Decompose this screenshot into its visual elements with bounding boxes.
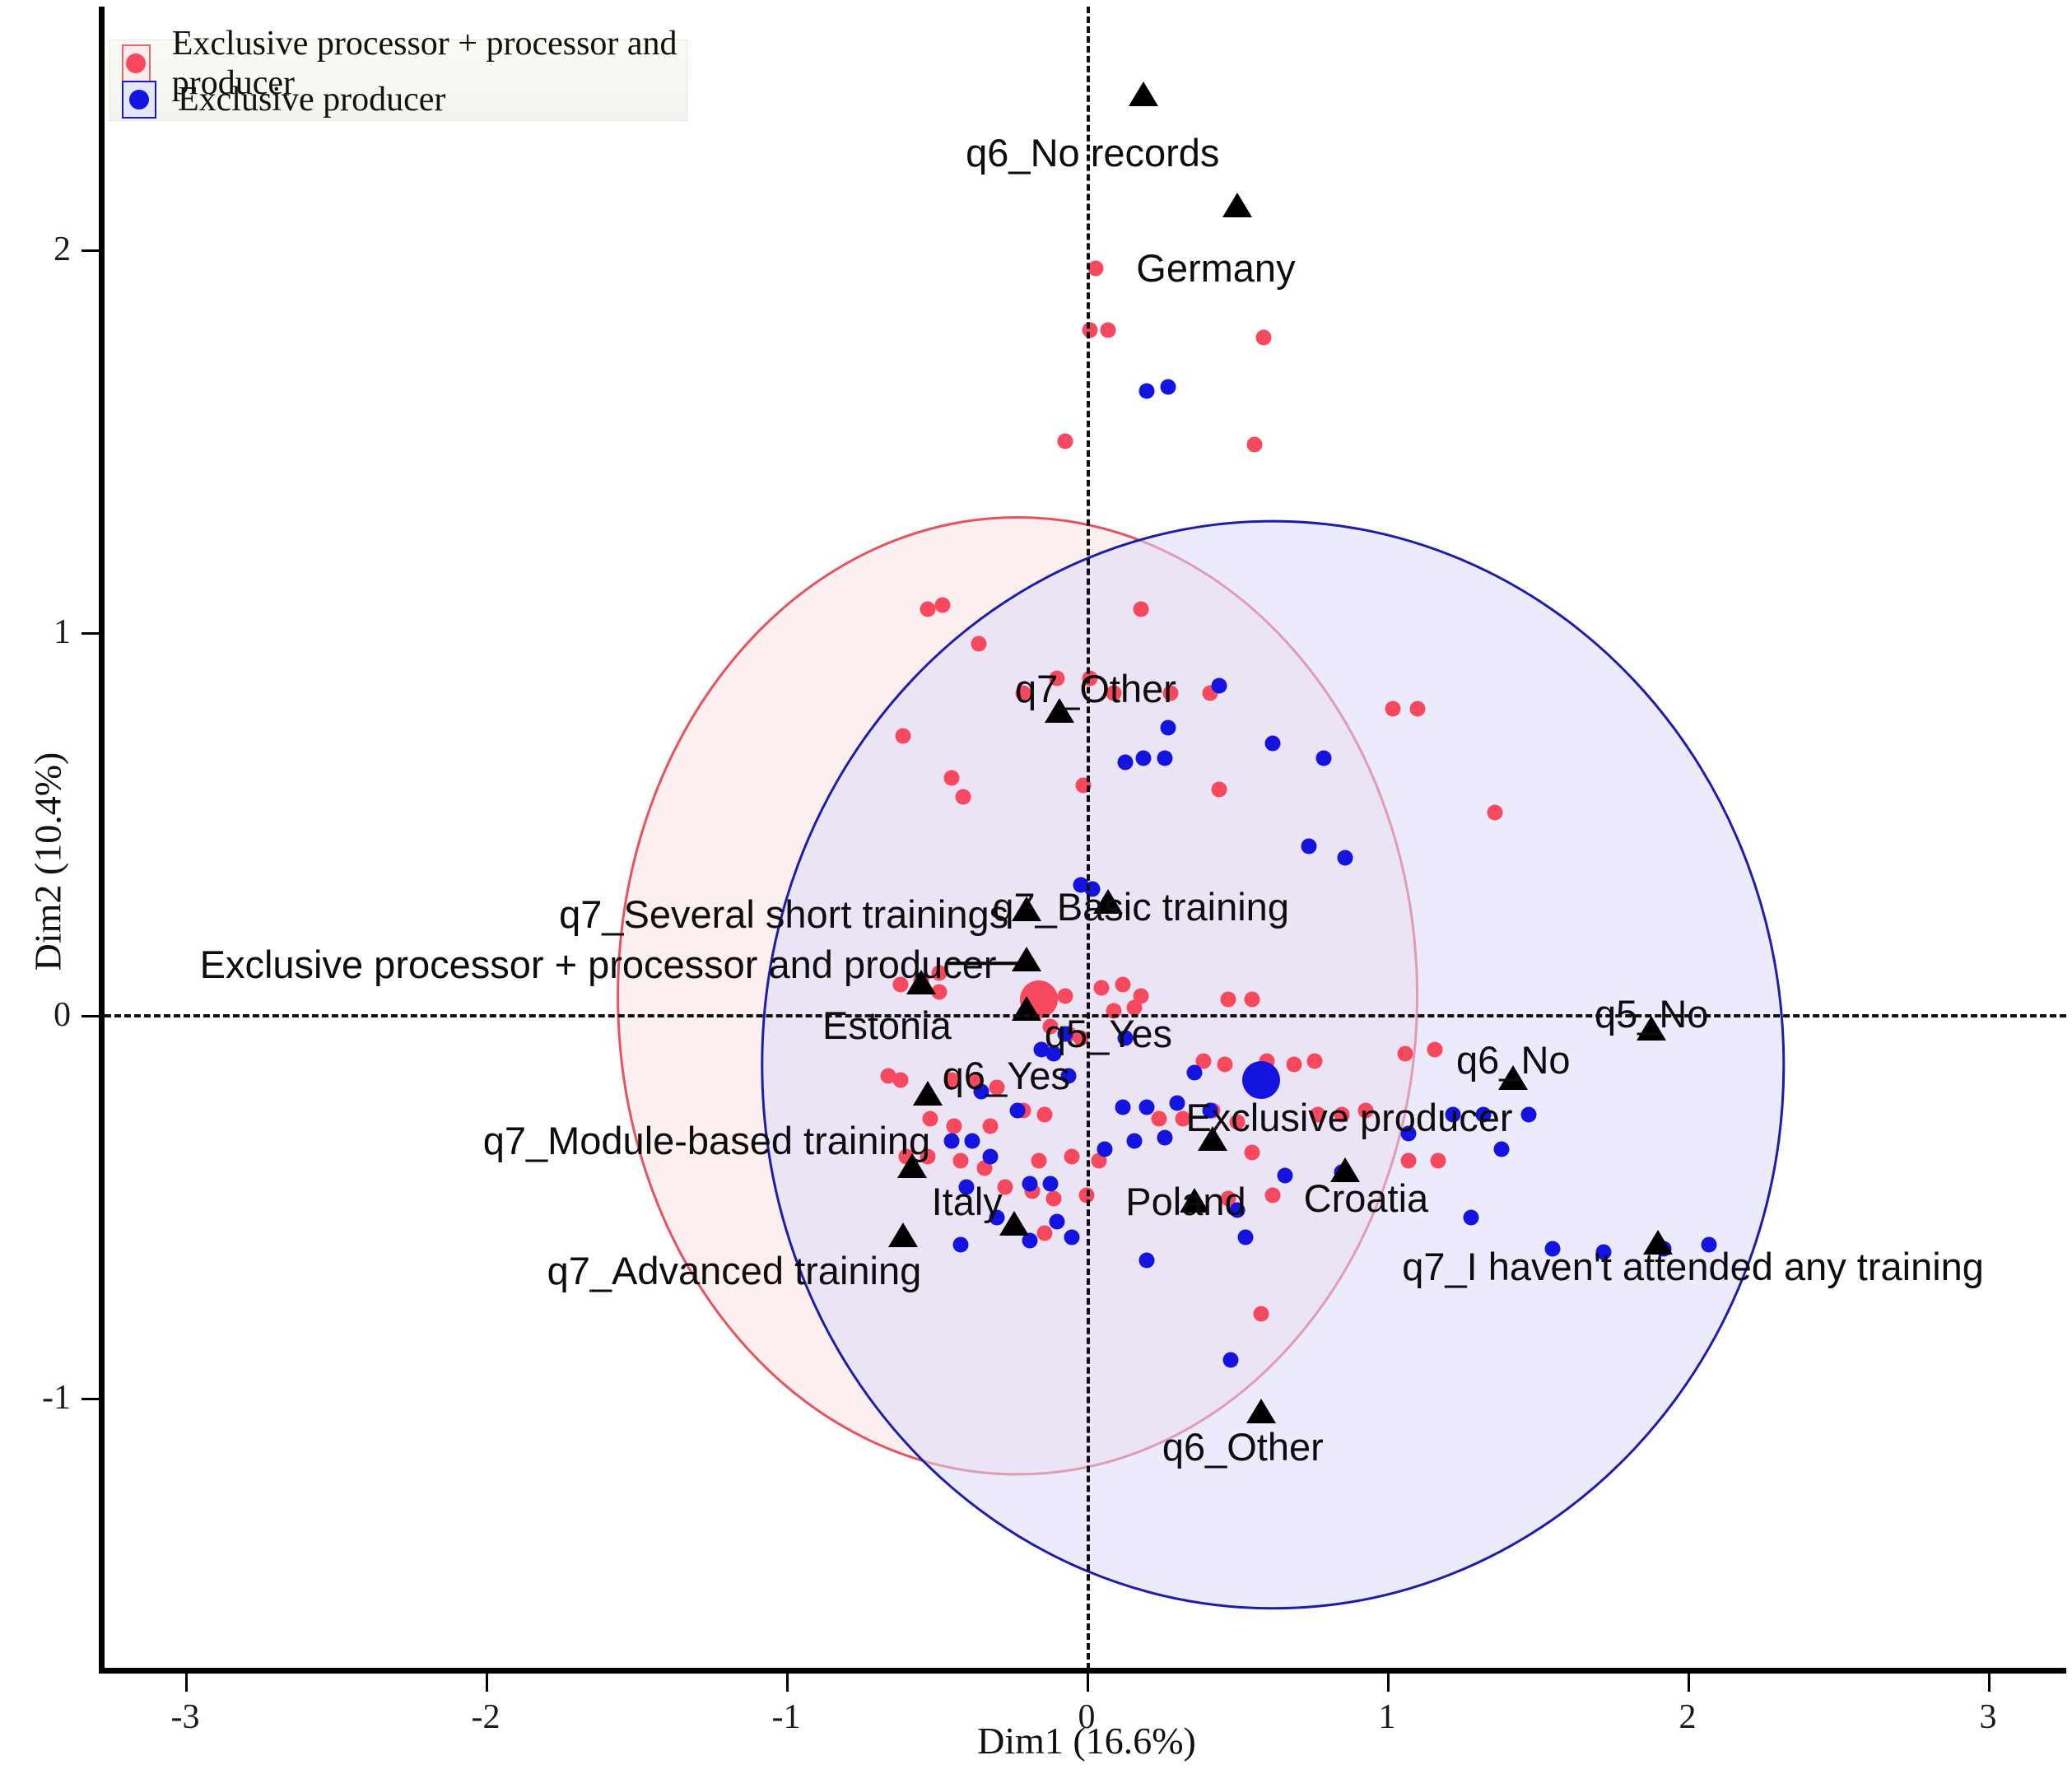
data-point bbox=[1301, 839, 1317, 854]
data-point bbox=[1043, 1176, 1059, 1191]
data-point bbox=[1094, 980, 1110, 996]
x-tick-label: 3 bbox=[1980, 1697, 1997, 1737]
category-triangle-marker bbox=[999, 1211, 1029, 1236]
data-point bbox=[1031, 1152, 1046, 1168]
data-point bbox=[1385, 701, 1401, 717]
legend-item-processor[interactable]: Exclusive processor + processor and prod… bbox=[122, 47, 687, 80]
data-point bbox=[1247, 437, 1263, 453]
data-point bbox=[1115, 1099, 1130, 1115]
data-point bbox=[1286, 1057, 1301, 1073]
y-tick-label: -1 bbox=[33, 1378, 71, 1418]
x-tick-mark bbox=[1988, 1674, 1991, 1692]
data-point bbox=[1151, 1110, 1166, 1126]
category-triangle-marker bbox=[888, 1222, 918, 1247]
chart-canvas: q6_No recordsGermanyq7_Otherq7_Basic tra… bbox=[0, 0, 2072, 1774]
data-point bbox=[1127, 1134, 1143, 1149]
data-point bbox=[1265, 735, 1281, 751]
x-tick-mark bbox=[1688, 1674, 1690, 1692]
data-point bbox=[1187, 1064, 1203, 1080]
category-label: q6_No records bbox=[966, 130, 1219, 175]
group-centroid-point bbox=[1242, 1061, 1280, 1099]
data-point bbox=[1058, 988, 1073, 1003]
data-point bbox=[1157, 1129, 1172, 1145]
data-point bbox=[943, 1134, 959, 1149]
data-point bbox=[1133, 602, 1148, 617]
data-point bbox=[1139, 1099, 1155, 1115]
y-axis-line bbox=[99, 7, 105, 1672]
data-point bbox=[1211, 678, 1227, 694]
data-point bbox=[892, 1073, 908, 1088]
x-tick-mark bbox=[486, 1674, 488, 1692]
data-point bbox=[1010, 1103, 1026, 1119]
data-point bbox=[983, 1149, 999, 1165]
y-tick-label: 1 bbox=[33, 612, 71, 652]
data-point bbox=[952, 1237, 968, 1253]
legend-swatch-red bbox=[122, 44, 151, 82]
data-point bbox=[971, 636, 986, 651]
data-point bbox=[1256, 329, 1272, 345]
data-point bbox=[1036, 1226, 1052, 1241]
category-label: q7_Other bbox=[1015, 666, 1176, 711]
y-tick-mark bbox=[81, 1398, 100, 1400]
x-axis-label: Dim1 (16.6%) bbox=[977, 1719, 1196, 1762]
data-point bbox=[1253, 1306, 1269, 1321]
x-tick-label: 1 bbox=[1379, 1697, 1396, 1737]
category-label: Germany bbox=[1136, 245, 1295, 291]
data-point bbox=[1136, 751, 1152, 766]
data-point bbox=[1160, 379, 1176, 395]
y-axis-label: Dim2 (10.4%) bbox=[26, 689, 70, 1035]
category-label: q7_Several short trainings bbox=[559, 892, 1008, 937]
category-triangle-marker bbox=[906, 970, 936, 994]
x-tick-label: -2 bbox=[472, 1697, 501, 1737]
category-label: Estonia bbox=[822, 1003, 952, 1048]
data-point bbox=[1169, 1095, 1185, 1110]
data-point bbox=[1397, 1045, 1413, 1061]
data-point bbox=[1217, 1057, 1232, 1073]
category-label: q7_Advanced training bbox=[547, 1248, 922, 1293]
data-point bbox=[1139, 1252, 1155, 1268]
category-triangle-marker bbox=[1246, 1399, 1276, 1423]
data-point bbox=[1139, 384, 1155, 399]
vertical-reference-line bbox=[1087, 7, 1090, 1669]
x-tick-mark bbox=[786, 1674, 789, 1692]
x-tick-mark bbox=[185, 1674, 188, 1692]
data-point bbox=[1160, 720, 1176, 736]
legend-label-producer: Exclusive producer bbox=[178, 80, 445, 119]
y-tick-mark bbox=[81, 1015, 100, 1017]
data-point bbox=[1400, 1152, 1416, 1168]
category-label: Italy bbox=[932, 1179, 1003, 1224]
category-triangle-marker bbox=[1012, 947, 1041, 971]
legend-swatch-blue bbox=[122, 81, 156, 119]
legend-dot-blue-icon bbox=[129, 90, 149, 109]
y-tick-mark bbox=[81, 632, 100, 635]
x-tick-mark bbox=[1087, 1674, 1089, 1692]
category-label: q6_No bbox=[1456, 1037, 1571, 1083]
data-point bbox=[1115, 976, 1130, 992]
data-point bbox=[920, 602, 935, 617]
x-tick-label: -3 bbox=[171, 1697, 200, 1737]
data-point bbox=[1277, 1168, 1292, 1184]
data-point bbox=[983, 1118, 999, 1134]
category-triangle-marker bbox=[1222, 193, 1252, 217]
data-point bbox=[956, 789, 971, 804]
category-triangle-marker bbox=[913, 1081, 943, 1106]
data-point bbox=[965, 1134, 980, 1149]
category-triangle-marker bbox=[1012, 896, 1041, 921]
legend-dot-red-icon bbox=[126, 54, 146, 73]
data-point bbox=[1045, 1191, 1061, 1207]
category-label: Exclusive processor + processor and prod… bbox=[200, 942, 997, 987]
legend-item-producer[interactable]: Exclusive producer bbox=[122, 83, 445, 116]
data-point bbox=[896, 728, 911, 743]
data-point bbox=[1220, 992, 1236, 1008]
x-tick-label: 2 bbox=[1679, 1697, 1697, 1737]
category-label: Poland bbox=[1125, 1179, 1246, 1224]
x-axis-line bbox=[99, 1668, 2066, 1674]
data-point bbox=[934, 598, 950, 613]
data-point bbox=[1118, 755, 1134, 771]
data-point bbox=[1223, 1352, 1239, 1367]
data-point bbox=[1036, 1106, 1052, 1122]
category-triangle-marker bbox=[1129, 81, 1158, 106]
data-point bbox=[1022, 1176, 1037, 1191]
category-label: q6_Other bbox=[1162, 1424, 1324, 1469]
data-point bbox=[1409, 701, 1425, 717]
data-point bbox=[1211, 781, 1227, 797]
data-point bbox=[943, 770, 959, 785]
data-point bbox=[1064, 1229, 1079, 1245]
data-point bbox=[1244, 1145, 1259, 1161]
data-point bbox=[1493, 1141, 1509, 1157]
data-point bbox=[1316, 751, 1332, 766]
data-point bbox=[1464, 1210, 1479, 1226]
category-label: q6_Yes bbox=[943, 1053, 1070, 1098]
data-point bbox=[1097, 1141, 1112, 1157]
data-point bbox=[1244, 992, 1259, 1008]
category-label: Exclusive producer bbox=[1185, 1095, 1512, 1140]
data-point bbox=[947, 1118, 962, 1134]
data-point bbox=[1100, 322, 1115, 338]
legend: Exclusive processor + processor and prod… bbox=[109, 40, 687, 121]
data-point bbox=[1337, 850, 1353, 866]
x-tick-label: -1 bbox=[772, 1697, 801, 1737]
x-tick-mark bbox=[1387, 1674, 1390, 1692]
data-point bbox=[1427, 1041, 1443, 1057]
data-point bbox=[1049, 1214, 1064, 1230]
plot-area: q6_No recordsGermanyq7_Otherq7_Basic tra… bbox=[0, 0, 2072, 1774]
category-label: q7_Module-based training bbox=[483, 1118, 930, 1163]
data-point bbox=[1238, 1229, 1254, 1245]
data-point bbox=[1431, 1152, 1446, 1168]
data-point bbox=[1064, 1149, 1079, 1165]
data-point bbox=[1087, 261, 1103, 277]
data-point bbox=[1488, 804, 1503, 820]
horizontal-reference-line bbox=[105, 1014, 2066, 1017]
y-tick-mark bbox=[81, 249, 100, 252]
data-point bbox=[952, 1152, 968, 1168]
category-label: q7_I haven't attended any training bbox=[1402, 1244, 1984, 1289]
data-point bbox=[1520, 1106, 1536, 1122]
data-point bbox=[1157, 751, 1172, 766]
data-point bbox=[1307, 1053, 1323, 1069]
data-point bbox=[1265, 1187, 1281, 1203]
y-tick-label: 2 bbox=[33, 230, 71, 269]
category-label: Croatia bbox=[1304, 1176, 1429, 1221]
data-point bbox=[1058, 433, 1073, 449]
